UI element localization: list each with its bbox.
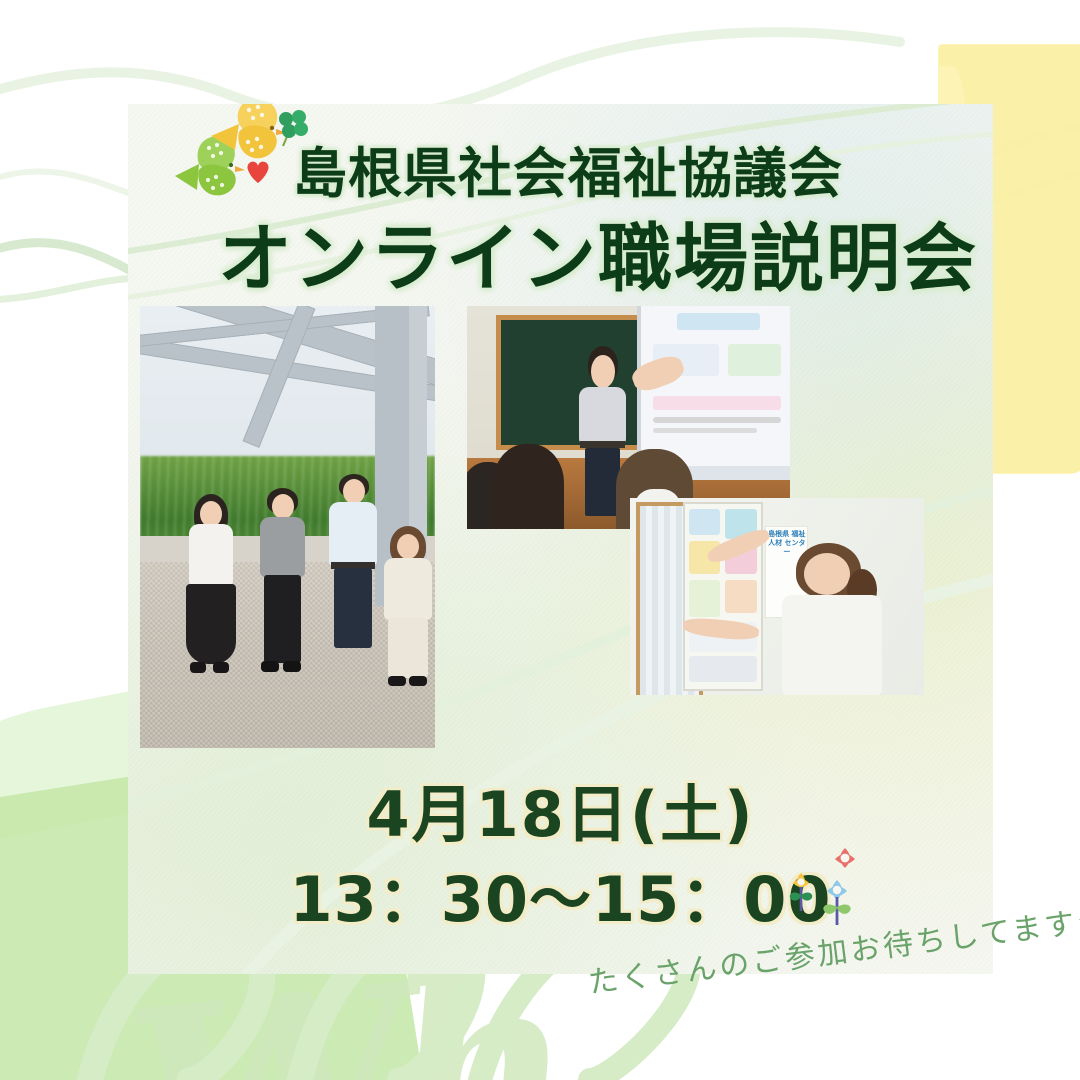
content-panel: 島根県社会福祉協議会 オンライン職場説明会	[128, 104, 993, 974]
person-man-grey-polo	[252, 488, 314, 696]
event-title: オンライン職場説明会	[218, 199, 978, 306]
flower-yellow-icon	[790, 873, 813, 911]
flower-red-icon	[835, 848, 855, 868]
organization-name: 島根県社会福祉協議会	[293, 129, 843, 208]
person-woman-black-skirt	[180, 494, 242, 694]
brochure-rack	[683, 502, 763, 691]
seminar-presentation-photo	[467, 306, 790, 529]
poster-canvas: Wh	[0, 0, 1080, 1080]
audience-2	[493, 444, 564, 529]
staff-group-photo	[140, 306, 435, 748]
red-heart-icon	[247, 162, 268, 183]
person-woman-seated-beige	[378, 526, 435, 694]
flower-blue-icon	[823, 880, 850, 925]
person-staff-woman	[777, 533, 912, 695]
welfare-center-photo: 島根県 福祉 人材 センター	[630, 498, 924, 695]
